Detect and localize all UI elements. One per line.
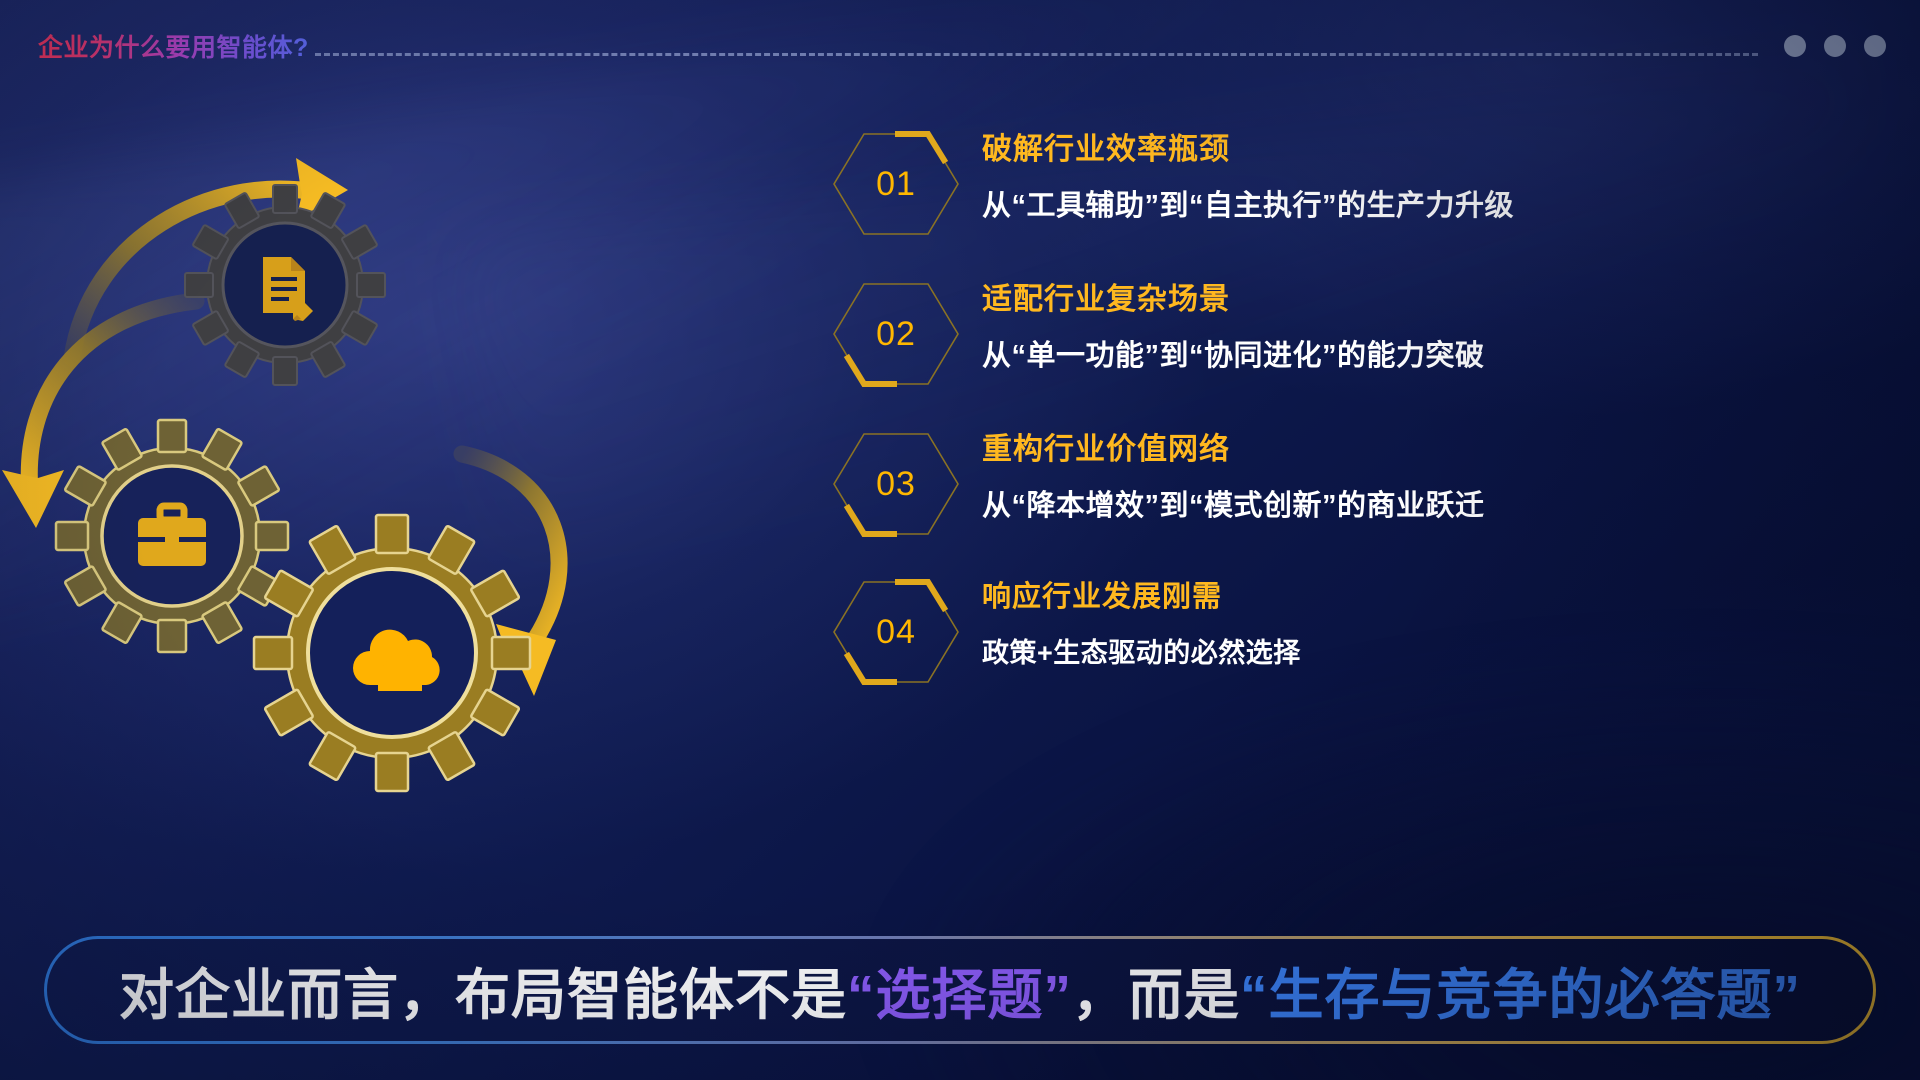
list-item-title: 重构行业价值网络 [982, 432, 1485, 468]
list-item-title: 响应行业发展刚需 [982, 580, 1301, 615]
header-dashed-rule [315, 53, 1758, 56]
header-dot-1 [1784, 35, 1806, 57]
gear-document [185, 185, 385, 385]
list-item[interactable]: 01 破解行业效率瓶颈 从“工具辅助”到“自主执行”的生产力升级 [832, 130, 1892, 280]
hex-badge-04: 04 [832, 578, 960, 686]
list-item-desc: 从“降本增效”到“模式创新”的商业跃迁 [982, 488, 1485, 524]
slide-root: 企业为什么要用智能体? [0, 0, 1920, 1080]
list-item[interactable]: 03 重构行业价值网络 从“降本增效”到“模式创新”的商业跃迁 [832, 430, 1892, 578]
hex-badge-01: 01 [832, 130, 960, 238]
gear-cloud-upload [254, 515, 530, 791]
list-item-desc: 从“单一功能”到“协同进化”的能力突破 [982, 338, 1485, 374]
header-dot-2 [1824, 35, 1846, 57]
list-item[interactable]: 04 响应行业发展刚需 政策+生态驱动的必然选择 [832, 578, 1892, 728]
conclusion-seg-4: “生存与竞争的必答题” [1240, 964, 1801, 1026]
hex-number: 04 [876, 613, 916, 652]
list-item[interactable]: 02 适配行业复杂场景 从“单一功能”到“协同进化”的能力突破 [832, 280, 1892, 430]
header-dots [1784, 35, 1886, 57]
header-dot-3 [1864, 35, 1886, 57]
page-title: 企业为什么要用智能体? [38, 28, 309, 64]
list-item-desc: 从“工具辅助”到“自主执行”的生产力升级 [982, 188, 1514, 224]
list-item-text: 重构行业价值网络 从“降本增效”到“模式创新”的商业跃迁 [960, 430, 1485, 524]
benefits-list: 01 破解行业效率瓶颈 从“工具辅助”到“自主执行”的生产力升级 02 适配行业… [832, 130, 1892, 728]
list-item-text: 破解行业效率瓶颈 从“工具辅助”到“自主执行”的生产力升级 [960, 130, 1514, 224]
hex-badge-02: 02 [832, 280, 960, 388]
hex-number: 03 [876, 465, 916, 504]
conclusion-text: 对企业而言，布局智能体不是“选择题”，而是“生存与竞争的必答题” [119, 950, 1801, 1030]
hex-number: 02 [876, 315, 916, 354]
conclusion-seg-2: “选择题” [847, 964, 1072, 1026]
list-item-title: 破解行业效率瓶颈 [982, 132, 1514, 168]
hex-badge-03: 03 [832, 430, 960, 538]
list-item-text: 响应行业发展刚需 政策+生态驱动的必然选择 [960, 578, 1301, 671]
conclusion-seg-1: 对企业而言，布局智能体不是 [119, 964, 847, 1026]
gears-illustration [0, 118, 660, 838]
slide-header: 企业为什么要用智能体? [0, 0, 1920, 92]
conclusion-banner-inner: 对企业而言，布局智能体不是“选择题”，而是“生存与竞争的必答题” [47, 939, 1873, 1041]
list-item-text: 适配行业复杂场景 从“单一功能”到“协同进化”的能力突破 [960, 280, 1485, 374]
hex-number: 01 [876, 165, 916, 204]
conclusion-seg-3: ，而是 [1072, 964, 1240, 1026]
conclusion-banner: 对企业而言，布局智能体不是“选择题”，而是“生存与竞争的必答题” [44, 936, 1876, 1044]
list-item-title: 适配行业复杂场景 [982, 282, 1485, 318]
list-item-desc: 政策+生态驱动的必然选择 [982, 637, 1301, 671]
gear-briefcase [56, 420, 288, 652]
